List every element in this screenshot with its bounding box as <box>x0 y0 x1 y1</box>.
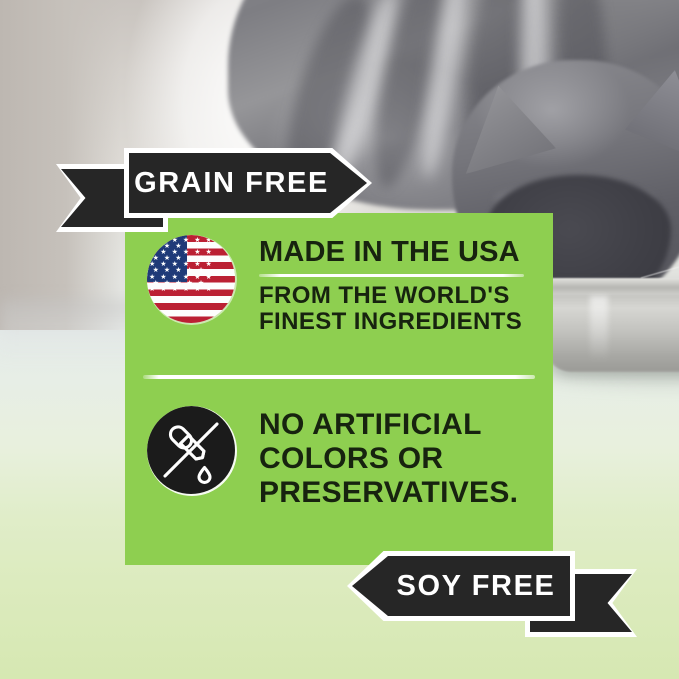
grain-free-label: GRAIN FREE <box>129 153 334 213</box>
no-artificial-line-2: COLORS OR <box>259 442 518 476</box>
soy-free-label: SOY FREE <box>382 556 570 616</box>
flag-stars: ★ ★ ★ ★ ★ ★ ★ ★ ★ ★ ★ ★ ★ ★ ★ ★ ★ ★ ★ ★ … <box>147 235 235 323</box>
bowl-highlight <box>590 296 608 362</box>
bowl-rim <box>543 278 679 295</box>
made-in-usa-subline-1: FROM THE WORLD'S <box>259 283 524 309</box>
no-artificial-line-3: PRESERVATIVES. <box>259 476 518 510</box>
usa-flag-circle-icon: ★ ★ ★ ★ ★ ★ ★ ★ ★ ★ ★ ★ ★ ★ ★ ★ ★ ★ ★ ★ … <box>147 235 237 325</box>
feature-made-in-usa: ★ ★ ★ ★ ★ ★ ★ ★ ★ ★ ★ ★ ★ ★ ★ ★ ★ ★ ★ ★ … <box>125 213 553 335</box>
made-in-usa-subline-2: FINEST INGREDIENTS <box>259 309 524 335</box>
dropper-glyph <box>147 406 235 494</box>
panel-section-divider <box>143 375 535 379</box>
no-artificial-line-1: NO ARTIFICIAL <box>259 408 518 442</box>
made-in-usa-headline: MADE IN THE USA <box>259 237 524 267</box>
no-artificial-dropper-icon <box>147 406 237 496</box>
headline-divider <box>259 274 524 277</box>
soy-free-banner: SOY FREE <box>347 551 637 631</box>
feature-no-artificial: NO ARTIFICIAL COLORS OR PRESERVATIVES. <box>125 381 553 510</box>
grain-free-banner: GRAIN FREE <box>56 146 372 230</box>
promo-graphic: ★ ★ ★ ★ ★ ★ ★ ★ ★ ★ ★ ★ ★ ★ ★ ★ ★ ★ ★ ★ … <box>0 0 679 679</box>
feature-panel: ★ ★ ★ ★ ★ ★ ★ ★ ★ ★ ★ ★ ★ ★ ★ ★ ★ ★ ★ ★ … <box>125 213 553 565</box>
